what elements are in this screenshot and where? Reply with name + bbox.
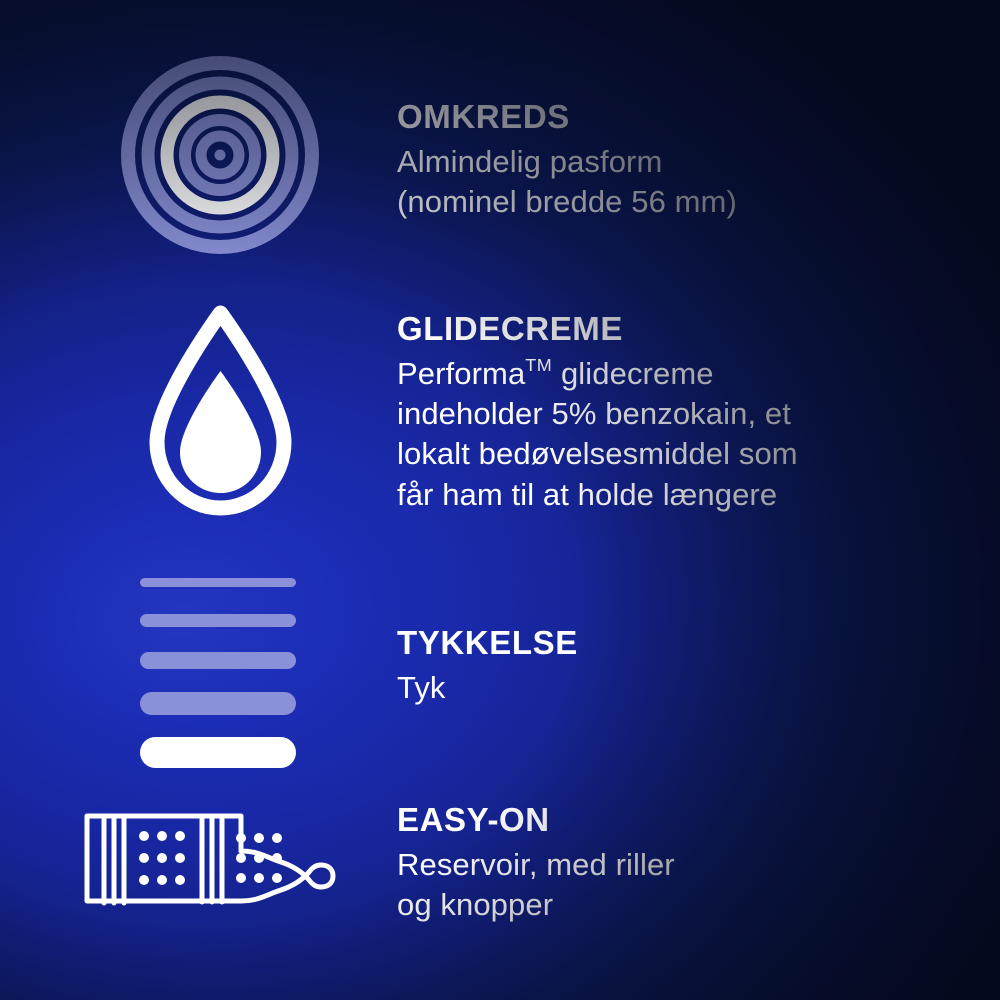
thickness-bar-3 xyxy=(140,652,296,669)
condom-icon xyxy=(78,808,353,913)
feature-title-tykkelse: TYKKELSE xyxy=(397,626,578,661)
feature-body-line: lokalt bedøvelsesmiddel som xyxy=(397,434,798,474)
feature-body-omkreds: Almindelig pasform (nominel bredde 56 mm… xyxy=(397,142,737,223)
thickness-bar-2 xyxy=(140,614,296,627)
feature-text-omkreds: OMKREDS Almindelig pasform (nominel bred… xyxy=(397,100,737,222)
feature-title-easy-on: EASY-ON xyxy=(397,803,675,838)
thickness-bar-1 xyxy=(140,578,296,587)
feature-body-line: Tyk xyxy=(397,668,578,708)
thickness-bar-5-highlighted xyxy=(140,737,296,768)
feature-body-line: og knopper xyxy=(397,885,675,925)
feature-body-line: indeholder 5% benzokain, et xyxy=(397,394,798,434)
feature-text-glidecreme: GLIDECREME PerformaTM glidecreme indehol… xyxy=(397,312,798,515)
feature-body-line: Reservoir, med riller xyxy=(397,845,675,885)
trademark-icon: TM xyxy=(525,355,552,375)
feature-body-line: (nominel bredde 56 mm) xyxy=(397,182,737,222)
infographic-canvas: OMKREDS Almindelig pasform (nominel bred… xyxy=(0,0,1000,1000)
feature-title-glidecreme: GLIDECREME xyxy=(397,312,798,347)
droplet-icon xyxy=(143,303,298,518)
thickness-bar-4 xyxy=(140,692,296,715)
feature-body-easy-on: Reservoir, med riller og knopper xyxy=(397,845,675,926)
feature-text-tykkelse: TYKKELSE Tyk xyxy=(397,626,578,708)
feature-body-line-brand: PerformaTM glidecreme xyxy=(397,354,798,394)
feature-body-glidecreme: PerformaTM glidecreme indeholder 5% benz… xyxy=(397,354,798,515)
thickness-bars-icon xyxy=(140,578,296,768)
feature-body-line: får ham til at holde længere xyxy=(397,475,798,515)
texture-dots-right xyxy=(236,833,282,883)
texture-dots-left xyxy=(139,831,185,885)
feature-text-easy-on: EASY-ON Reservoir, med riller og knopper xyxy=(397,803,675,925)
feature-title-omkreds: OMKREDS xyxy=(397,100,737,135)
brand-name: Performa xyxy=(397,356,525,391)
feature-body-line: Almindelig pasform xyxy=(397,142,737,182)
concentric-circles-icon xyxy=(120,55,320,255)
feature-body-tykkelse: Tyk xyxy=(397,668,578,708)
